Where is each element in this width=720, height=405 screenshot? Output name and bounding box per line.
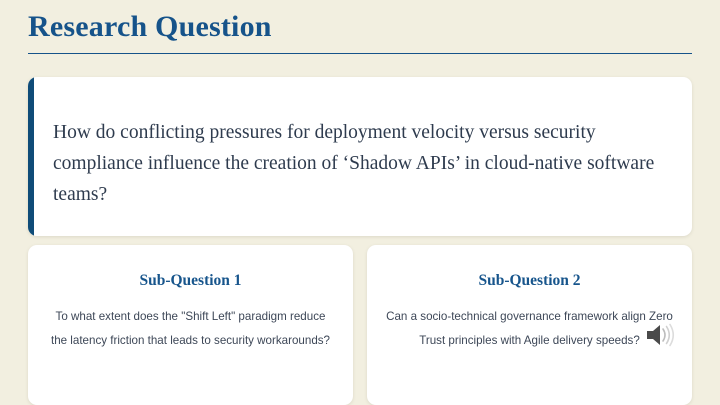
title-divider [28, 53, 692, 54]
sub-question-card-1[interactable]: Sub-Question 1 To what extent does the "… [28, 245, 353, 405]
sub-question-1-text: To what extent does the "Shift Left" par… [46, 305, 335, 352]
speaker-icon[interactable] [644, 321, 676, 349]
slide-canvas: Research Question How do conflicting pre… [0, 0, 720, 405]
sub-question-2-title: Sub-Question 2 [385, 271, 674, 291]
sub-question-1-title: Sub-Question 1 [46, 271, 335, 291]
page-title: Research Question [28, 8, 692, 46]
main-question-text: How do conflicting pressures for deploym… [53, 117, 668, 210]
sub-question-2-text: Can a socio-technical governance framewo… [385, 305, 674, 352]
sub-question-list: Sub-Question 1 To what extent does the "… [28, 245, 692, 405]
main-question-accent-bar [28, 77, 34, 236]
sub-question-card-2[interactable]: Sub-Question 2 Can a socio-technical gov… [367, 245, 692, 405]
main-question-card: How do conflicting pressures for deploym… [28, 77, 692, 236]
